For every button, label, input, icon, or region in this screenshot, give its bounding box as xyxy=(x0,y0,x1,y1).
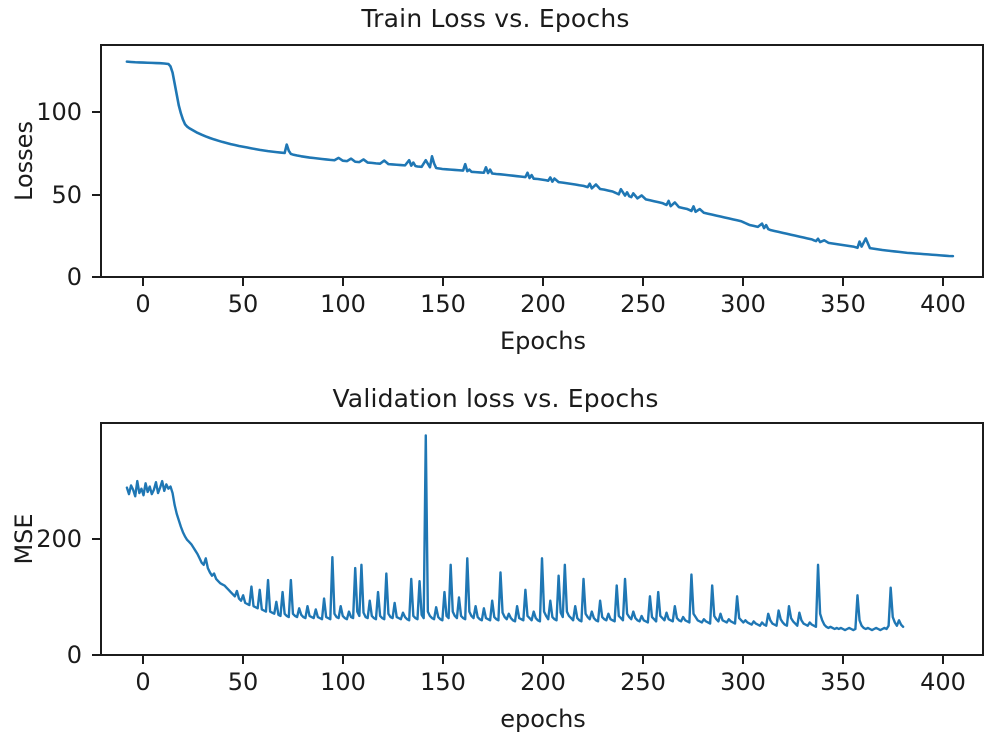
train-xtick-label-300: 300 xyxy=(720,290,766,318)
validation-loss-line xyxy=(127,435,903,630)
train-plot-area xyxy=(100,44,984,278)
train-x-axis-label: Epochs xyxy=(500,327,586,355)
train-ytick-label-100: 100 xyxy=(20,98,82,126)
validation-xtick-label-400: 400 xyxy=(920,668,966,696)
train-xtick-label-400: 400 xyxy=(920,290,966,318)
train-xtick-200 xyxy=(542,278,544,286)
validation-plot-area xyxy=(100,422,984,656)
validation-loss-line-svg xyxy=(102,424,982,654)
validation-chart-title: Validation loss vs. Epochs xyxy=(0,384,991,413)
validation-xtick-50 xyxy=(242,656,244,664)
validation-xtick-200 xyxy=(542,656,544,664)
train-xtick-50 xyxy=(242,278,244,286)
validation-xtick-250 xyxy=(642,656,644,664)
validation-xtick-label-200: 200 xyxy=(520,668,566,696)
validation-xtick-350 xyxy=(842,656,844,664)
validation-xtick-150 xyxy=(442,656,444,664)
validation-xtick-100 xyxy=(342,656,344,664)
train-xtick-400 xyxy=(942,278,944,286)
validation-loss-panel: Validation loss vs. Epochs MSE 200 0 0 5… xyxy=(0,370,991,739)
train-xtick-0 xyxy=(142,278,144,286)
train-xtick-label-150: 150 xyxy=(420,290,466,318)
validation-xtick-label-250: 250 xyxy=(620,668,666,696)
train-ytick-0 xyxy=(92,276,100,278)
validation-x-axis-label: epochs xyxy=(500,705,586,733)
train-loss-line-svg xyxy=(102,46,982,276)
validation-xtick-label-350: 350 xyxy=(820,668,866,696)
validation-xtick-label-50: 50 xyxy=(228,668,259,696)
train-chart-title: Train Loss vs. Epochs xyxy=(0,4,991,33)
train-ytick-100 xyxy=(92,111,100,113)
validation-xtick-label-0: 0 xyxy=(135,668,150,696)
validation-ytick-label-200: 200 xyxy=(18,525,82,553)
train-xtick-label-250: 250 xyxy=(620,290,666,318)
train-xtick-100 xyxy=(342,278,344,286)
validation-ytick-200 xyxy=(92,538,100,540)
train-xtick-300 xyxy=(742,278,744,286)
train-xtick-150 xyxy=(442,278,444,286)
train-ytick-label-0: 0 xyxy=(20,263,82,291)
train-loss-line xyxy=(127,62,953,256)
train-ytick-50 xyxy=(92,194,100,196)
validation-xtick-label-300: 300 xyxy=(720,668,766,696)
train-xtick-label-200: 200 xyxy=(520,290,566,318)
validation-ytick-0 xyxy=(92,654,100,656)
train-xtick-label-50: 50 xyxy=(228,290,259,318)
train-loss-panel: Train Loss vs. Epochs Losses 100 50 0 0 … xyxy=(0,0,991,370)
train-xtick-250 xyxy=(642,278,644,286)
train-xtick-label-100: 100 xyxy=(320,290,366,318)
train-xtick-350 xyxy=(842,278,844,286)
matplotlib-figure: Train Loss vs. Epochs Losses 100 50 0 0 … xyxy=(0,0,991,739)
train-xtick-label-0: 0 xyxy=(135,290,150,318)
validation-ytick-label-0: 0 xyxy=(18,641,82,669)
validation-xtick-label-150: 150 xyxy=(420,668,466,696)
validation-xtick-300 xyxy=(742,656,744,664)
validation-xtick-400 xyxy=(942,656,944,664)
validation-xtick-label-100: 100 xyxy=(320,668,366,696)
validation-xtick-0 xyxy=(142,656,144,664)
train-xtick-label-350: 350 xyxy=(820,290,866,318)
train-ytick-label-50: 50 xyxy=(20,181,82,209)
